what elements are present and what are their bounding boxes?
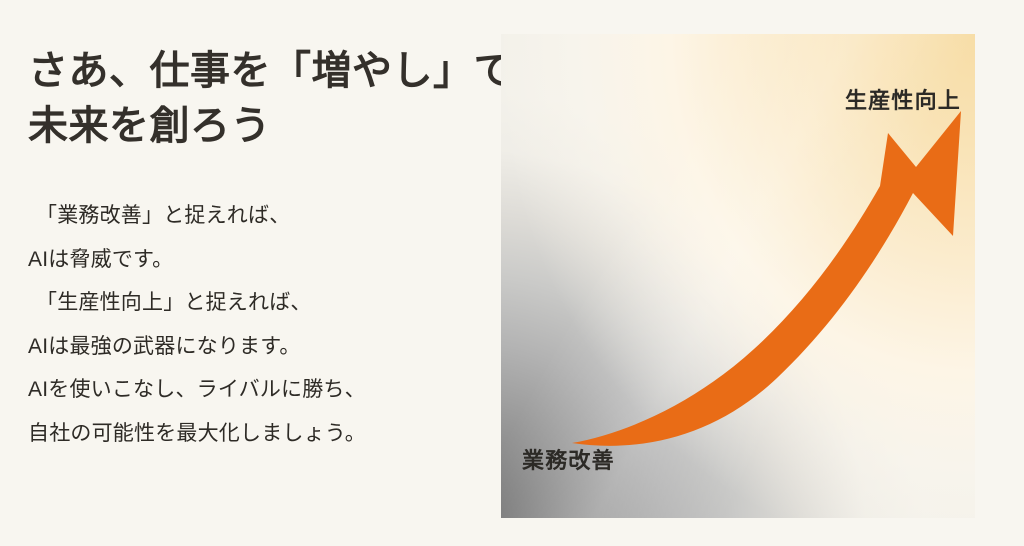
body-line-3: 「生産性向上」と捉えれば、 [28,281,488,324]
headline-line-2: 未来を創ろう [28,99,488,154]
body-line-6: 自社の可能性を最大化しましょう。 [28,412,488,455]
text-column: さあ、仕事を「増やし」て 未来を創ろう 「業務改善」と捉えれば、 AIは脅威です… [28,44,488,455]
body-line-5: AIを使いこなし、ライバルに勝ち、 [28,368,488,411]
body-line-4: AIは最強の武器になります。 [28,325,488,368]
body-copy: 「業務改善」と捉えれば、 AIは脅威です。 「生産性向上」と捉えれば、 AIは最… [28,154,488,455]
headline-line-1: さあ、仕事を「増やし」て [28,44,488,99]
growth-arrow-panel: 生産性向上 業務改善 [501,34,975,518]
body-line-2: AIは脅威です。 [28,238,488,281]
label-productivity-improvement: 生産性向上 [845,83,961,115]
slide-canvas: さあ、仕事を「増やし」て 未来を創ろう 「業務改善」と捉えれば、 AIは脅威です… [0,0,1024,546]
label-business-improvement: 業務改善 [522,443,615,475]
body-line-1: 「業務改善」と捉えれば、 [28,194,488,237]
page-title: さあ、仕事を「増やし」て 未来を創ろう [28,44,488,154]
